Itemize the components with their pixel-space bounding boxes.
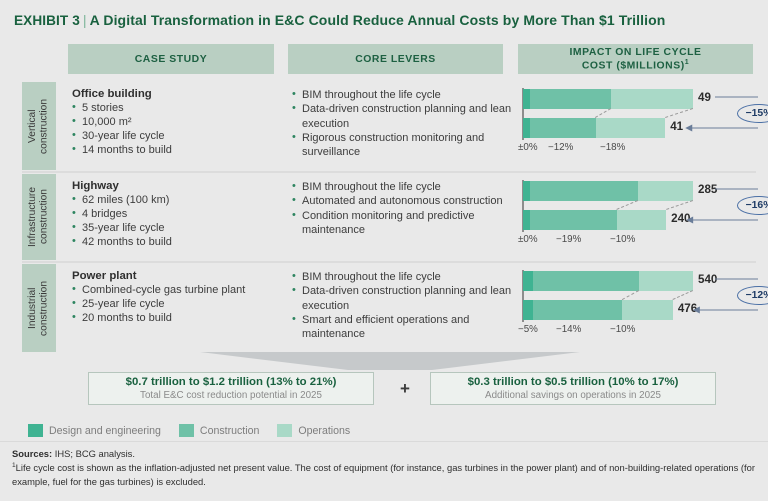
- summary-right-caption: Additional savings on operations in 2025: [485, 390, 661, 402]
- total-reduction-badge: −12%: [737, 286, 768, 305]
- bar-segment-operations: [611, 89, 693, 109]
- list-item: 62 miles (100 km): [72, 193, 287, 207]
- column-header-impact-line2: COST ($MILLIONS): [582, 60, 685, 71]
- bar-segment-construction: [533, 300, 623, 320]
- list-item: 35-year life cycle: [72, 221, 287, 235]
- bar-segment-operations: [639, 271, 693, 291]
- footnote-1: 1Life cycle cost is shown as the inflati…: [12, 461, 758, 488]
- row-tab-label: Industrial construction: [27, 281, 50, 336]
- legend-item: Operations: [277, 424, 350, 437]
- axis-tick-label: −10%: [610, 324, 635, 335]
- total-reduction-badge: −16%: [737, 196, 768, 215]
- exhibit-page: Exhibit 3|A Digital Transformation in E&…: [0, 0, 768, 501]
- segment-connector-line: [665, 108, 693, 118]
- list-item: Automated and autonomous construction: [292, 194, 518, 208]
- bar-segment-operations: [617, 210, 666, 230]
- row-tab-industrial-construction: Industrial construction: [22, 264, 56, 352]
- list-item: BIM throughout the life cycle: [292, 180, 518, 194]
- segment-connector-line: [672, 290, 693, 300]
- bar-improved: [523, 118, 665, 138]
- legend-item: Design and engineering: [28, 424, 161, 437]
- legend-label: Design and engineering: [49, 425, 161, 437]
- axis-tick-label: −12%: [548, 142, 573, 153]
- bar-segment-design: [523, 271, 533, 291]
- bar-segment-construction: [530, 210, 617, 230]
- legend-swatch-icon: [28, 424, 43, 437]
- core-levers-cell: BIM throughout the life cycleData-driven…: [292, 88, 518, 159]
- list-item: 4 bridges: [72, 207, 287, 221]
- chart-tick-labels: −5%−14%−10%: [518, 324, 758, 338]
- list-item: 14 months to build: [72, 143, 287, 157]
- list-item: 25-year life cycle: [72, 297, 287, 311]
- axis-tick-label: ±0%: [518, 142, 538, 153]
- bar-baseline: [523, 271, 693, 291]
- column-header-impact: IMPACT ON LIFE CYCLE COST ($MILLIONS)1: [518, 44, 753, 74]
- list-item: 5 stories: [72, 101, 287, 115]
- exhibit-number: Exhibit 3: [14, 13, 80, 28]
- chart-tick-labels: ±0%−19%−10%: [518, 234, 758, 248]
- bar-segment-design: [523, 300, 533, 320]
- sources-label: Sources:: [12, 448, 52, 459]
- axis-tick-label: −14%: [556, 324, 581, 335]
- title-separator: |: [80, 13, 90, 29]
- summary-box-cost-reduction: $0.7 trillion to $1.2 trillion (13% to 2…: [88, 372, 374, 405]
- case-study-title: Office building: [72, 88, 287, 100]
- axis-tick-label: −10%: [610, 234, 635, 245]
- bar-improved: [523, 210, 666, 230]
- table-row: Power plantCombined-cycle gas turbine pl…: [60, 264, 756, 352]
- case-study-cell: Office building5 stories10,000 m²30-year…: [72, 88, 287, 157]
- row-tab-label: Infrastructure construction: [27, 187, 50, 247]
- axis-tick-label: ±0%: [518, 234, 538, 245]
- column-header-case-study-label: CASE STUDY: [135, 53, 207, 66]
- case-study-bullet-list: 62 miles (100 km)4 bridges35-year life c…: [72, 193, 287, 249]
- legend-swatch-icon: [277, 424, 292, 437]
- bar-baseline: [523, 89, 693, 109]
- bar-baseline: [523, 181, 693, 201]
- segment-connector-line: [595, 108, 611, 118]
- title-headline: A Digital Transformation in E&C Could Re…: [90, 12, 666, 28]
- impact-footnote-marker: 1: [685, 59, 689, 66]
- bar-segment-construction: [530, 181, 639, 201]
- plus-sign-icon: +: [395, 379, 415, 399]
- row-tab-vertical-construction: Vertical construction: [22, 82, 56, 170]
- bar-segment-operations: [596, 118, 665, 138]
- column-header-core-levers: CORE LEVERS: [288, 44, 503, 74]
- funnel-arrow-icon: [200, 352, 580, 372]
- impact-chart: 4941±0%−12%−18%−15%: [518, 86, 758, 166]
- core-levers-bullet-list: BIM throughout the life cycleData-driven…: [292, 88, 518, 159]
- segment-connector-line: [622, 290, 639, 300]
- footnote-text: Life cycle cost is shown as the inflatio…: [12, 462, 755, 487]
- case-study-cell: Highway62 miles (100 km)4 bridges35-year…: [72, 180, 287, 249]
- case-study-bullet-list: 5 stories10,000 m²30-year life cycle14 m…: [72, 101, 287, 157]
- axis-tick-label: −5%: [518, 324, 538, 335]
- list-item: Combined-cycle gas turbine plant: [72, 283, 287, 297]
- bar-value-improved: 41: [670, 120, 683, 133]
- sources-text: IHS; BCG analysis.: [55, 448, 135, 459]
- impact-chart: 285240±0%−19%−10%−16%: [518, 178, 758, 258]
- row-divider: [22, 261, 756, 263]
- footer-divider: [0, 441, 768, 442]
- bar-segment-operations: [638, 181, 693, 201]
- bar-value-improved: 240: [671, 212, 690, 225]
- summary-box-operations-savings: $0.3 trillion to $0.5 trillion (10% to 1…: [430, 372, 716, 405]
- bar-value-baseline: 540: [698, 273, 717, 286]
- core-levers-bullet-list: BIM throughout the life cycleAutomated a…: [292, 180, 518, 237]
- row-divider: [22, 171, 756, 173]
- axis-tick-label: −18%: [600, 142, 625, 153]
- total-reduction-badge: −15%: [737, 104, 768, 123]
- bar-segment-design: [523, 210, 530, 230]
- bar-segment-construction: [530, 118, 596, 138]
- summary-right-value: $0.3 trillion to $0.5 trillion (10% to 1…: [468, 376, 679, 389]
- bar-segment-construction: [530, 89, 611, 109]
- sources-note: Sources: IHS; BCG analysis.: [12, 447, 758, 461]
- list-item: Data-driven construction planning and le…: [292, 284, 518, 313]
- case-study-title: Power plant: [72, 270, 287, 282]
- segment-connector-line: [666, 200, 693, 210]
- bar-segment-construction: [533, 271, 639, 291]
- list-item: Data-driven construction planning and le…: [292, 102, 518, 131]
- bar-segment-operations: [622, 300, 673, 320]
- bar-segment-design: [523, 181, 530, 201]
- case-study-cell: Power plantCombined-cycle gas turbine pl…: [72, 270, 287, 325]
- chart-legend: Design and engineeringConstructionOperat…: [28, 424, 361, 437]
- row-tab-infrastructure-construction: Infrastructure construction: [22, 174, 56, 260]
- column-header-case-study: CASE STUDY: [68, 44, 274, 74]
- list-item: 20 months to build: [72, 311, 287, 325]
- column-header-impact-line1: IMPACT ON LIFE CYCLE: [569, 46, 701, 59]
- bar-improved: [523, 300, 673, 320]
- list-item: Rigorous construction monitoring and sur…: [292, 131, 518, 160]
- bar-value-baseline: 49: [698, 91, 711, 104]
- case-study-bullet-list: Combined-cycle gas turbine plant25-year …: [72, 283, 287, 325]
- summary-left-value: $0.7 trillion to $1.2 trillion (13% to 2…: [126, 376, 337, 389]
- table-row: Office building5 stories10,000 m²30-year…: [60, 82, 756, 170]
- core-levers-bullet-list: BIM throughout the life cycleData-driven…: [292, 270, 518, 341]
- list-item: 42 months to build: [72, 235, 287, 249]
- bar-segment-design: [523, 89, 530, 109]
- bar-value-improved: 476: [678, 302, 697, 315]
- list-item: BIM throughout the life cycle: [292, 88, 518, 102]
- list-item: Smart and efficient operations and maint…: [292, 313, 518, 342]
- page-title: Exhibit 3|A Digital Transformation in E&…: [14, 12, 758, 29]
- table-row: Highway62 miles (100 km)4 bridges35-year…: [60, 174, 756, 260]
- row-tab-label: Vertical construction: [27, 99, 50, 154]
- list-item: BIM throughout the life cycle: [292, 270, 518, 284]
- bar-value-baseline: 285: [698, 183, 717, 196]
- list-item: 10,000 m²: [72, 115, 287, 129]
- legend-label: Operations: [298, 425, 350, 437]
- core-levers-cell: BIM throughout the life cycleData-driven…: [292, 270, 518, 341]
- axis-tick-label: −19%: [556, 234, 581, 245]
- impact-chart: 540476−5%−14%−10%−12%: [518, 268, 758, 348]
- segment-connector-line: [617, 200, 639, 210]
- legend-swatch-icon: [179, 424, 194, 437]
- column-header-core-levers-label: CORE LEVERS: [355, 53, 436, 66]
- legend-item: Construction: [179, 424, 259, 437]
- legend-label: Construction: [200, 425, 259, 437]
- chart-tick-labels: ±0%−12%−18%: [518, 142, 758, 156]
- list-item: 30-year life cycle: [72, 129, 287, 143]
- list-item: Condition monitoring and predictive main…: [292, 209, 518, 238]
- core-levers-cell: BIM throughout the life cycleAutomated a…: [292, 180, 518, 237]
- case-study-title: Highway: [72, 180, 287, 192]
- bar-segment-design: [523, 118, 530, 138]
- summary-left-caption: Total E&C cost reduction potential in 20…: [140, 390, 322, 402]
